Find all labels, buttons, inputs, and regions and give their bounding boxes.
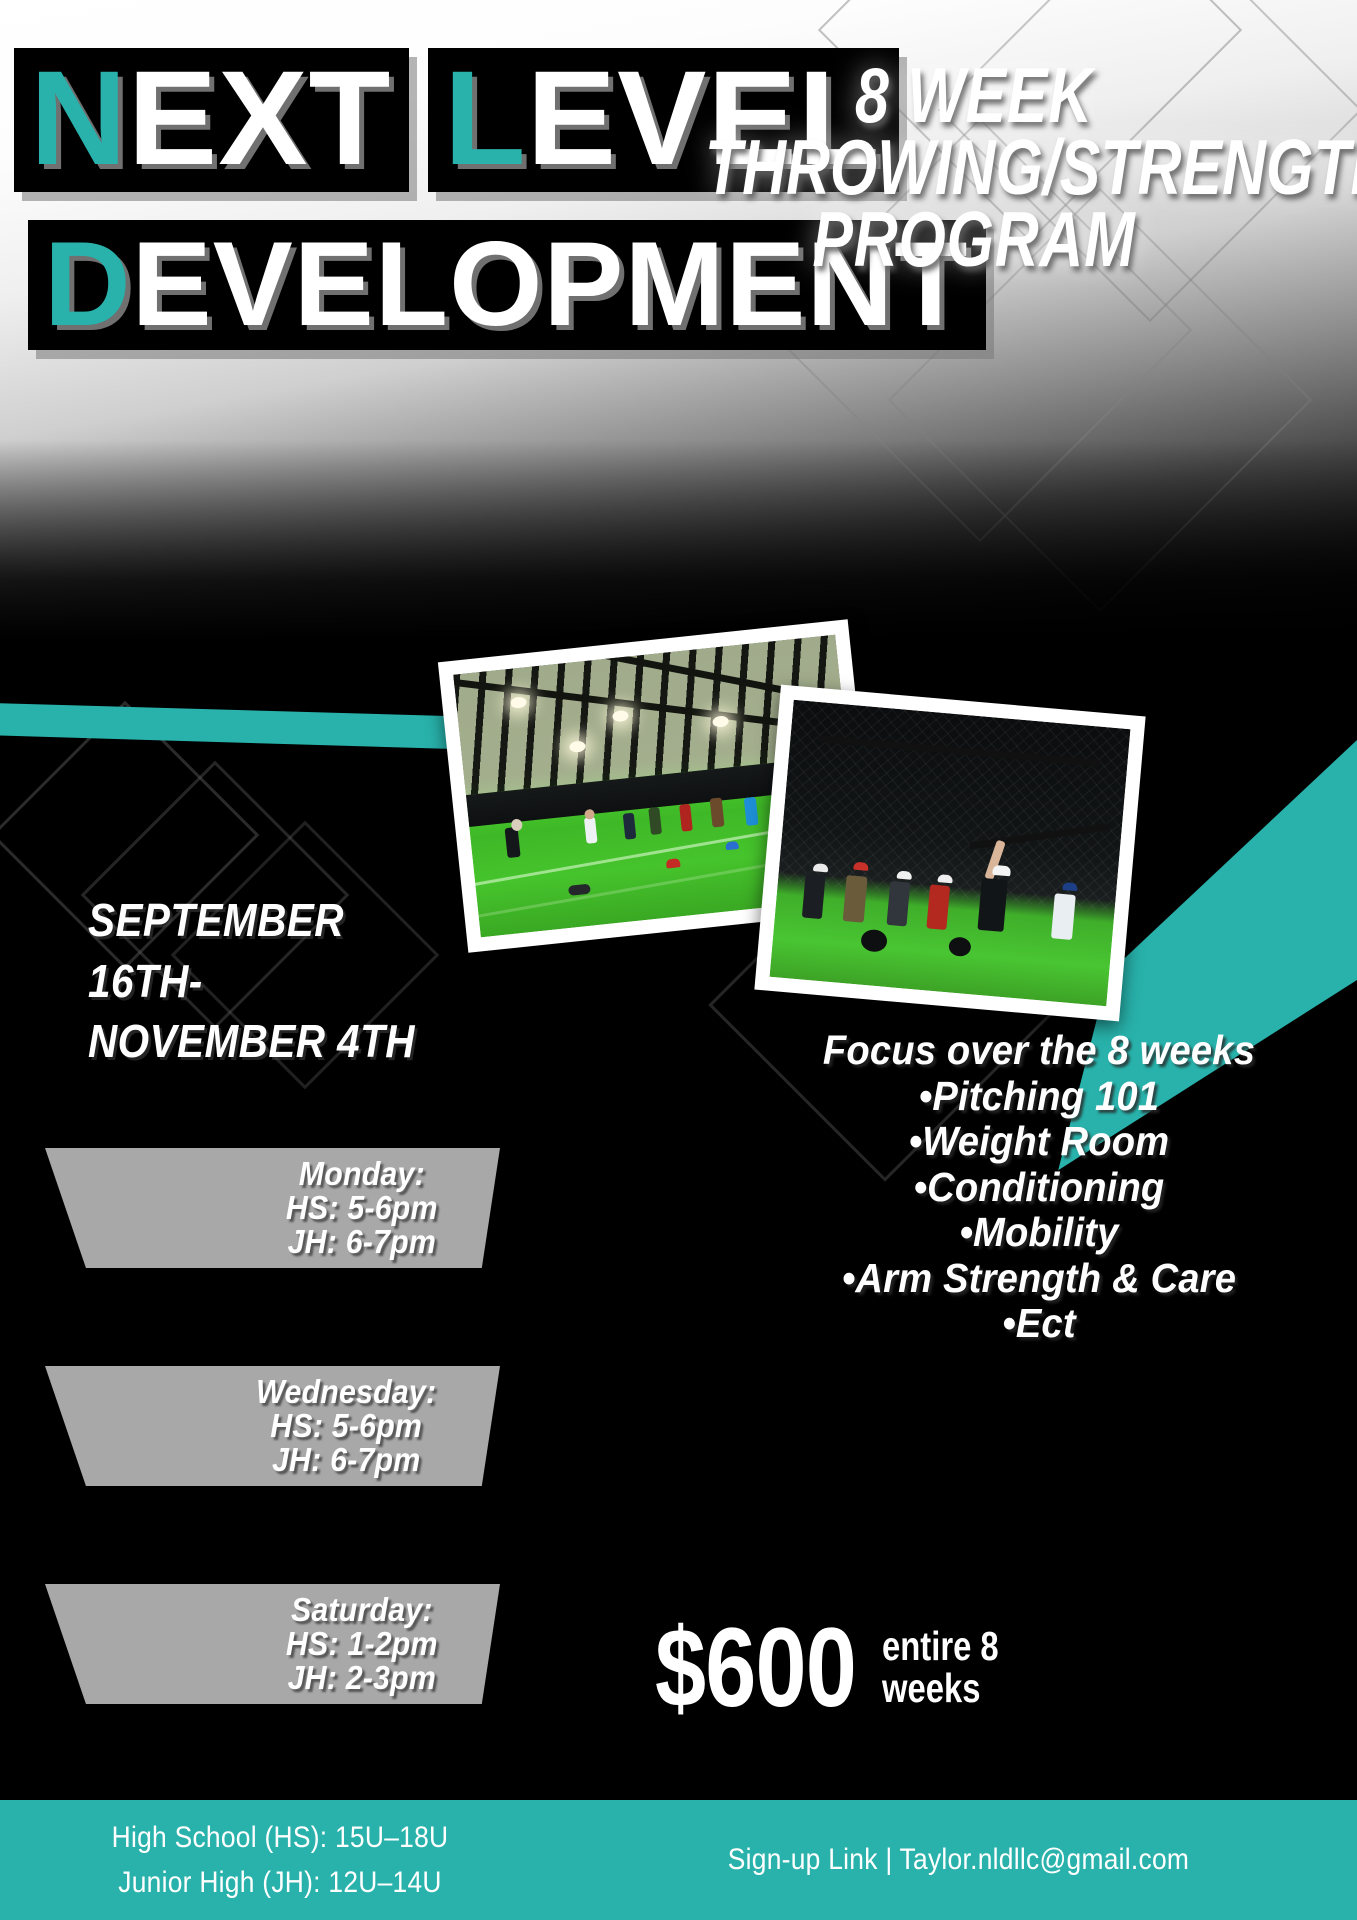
- photo-coach-group-image: [770, 700, 1131, 1006]
- schedule-day-wednesday: Wednesday:: [256, 1375, 436, 1409]
- photo-coach-group: [754, 685, 1145, 1022]
- schedule-day-monday: Monday:: [286, 1157, 438, 1191]
- footer-age-groups: High School (HS): 15U–18U Junior High (J…: [34, 1815, 527, 1905]
- footer-signup-link[interactable]: Sign-up Link | Taylor.nldllc@gmail.com: [608, 1843, 1309, 1877]
- header-fade: [0, 440, 1357, 640]
- schedule-hs-wednesday: HS: 5-6pm: [256, 1409, 436, 1443]
- schedule-jh-saturday: JH: 2-3pm: [286, 1661, 438, 1695]
- focus-item-ect: •Ect: [797, 1301, 1281, 1347]
- date-line-2: NOVEMBER 4TH: [88, 1011, 440, 1072]
- program-headline: 8 WEEK THROWING/STRENGTH PROGRAM: [705, 60, 1243, 275]
- price-amount: $600: [655, 1620, 856, 1716]
- headline-line-2: THROWING/STRENGTH: [705, 132, 1243, 204]
- headline-line-3: PROGRAM: [705, 204, 1243, 276]
- focus-item-weight-room: •Weight Room: [797, 1119, 1281, 1165]
- price-note-line-2: weeks: [882, 1668, 999, 1710]
- headline-line-1: 8 WEEK: [705, 60, 1243, 132]
- price-block: $600 entire 8 weeks: [655, 1620, 1028, 1716]
- footer-age-high-school: High School (HS): 15U–18U: [34, 1815, 527, 1860]
- flyer-poster: NEXT LEVEL DEVELOPMENT 8 WEEK THROWING/S…: [0, 0, 1357, 1920]
- logo-line-next: NEXT: [14, 48, 409, 192]
- price-note: entire 8 weeks: [882, 1626, 999, 1710]
- schedule-card-wednesday: Wednesday: HS: 5-6pm JH: 6-7pm: [45, 1366, 500, 1486]
- logo-accent-l: L: [444, 44, 527, 193]
- schedule-card-monday: Monday: HS: 5-6pm JH: 6-7pm: [45, 1148, 500, 1268]
- footer-bar: High School (HS): 15U–18U Junior High (J…: [0, 1800, 1357, 1920]
- schedule-day-saturday: Saturday:: [286, 1593, 438, 1627]
- logo-accent-d: D: [44, 217, 132, 351]
- program-dates: SEPTEMBER 16TH- NOVEMBER 4TH: [88, 890, 440, 1072]
- focus-heading: Focus over the 8 weeks: [797, 1028, 1281, 1074]
- focus-item-arm-strength: •Arm Strength & Care: [797, 1256, 1281, 1302]
- schedule-jh-monday: JH: 6-7pm: [286, 1225, 438, 1259]
- footer-age-junior-high: Junior High (JH): 12U–14U: [34, 1860, 527, 1905]
- schedule-jh-wednesday: JH: 6-7pm: [256, 1443, 436, 1477]
- schedule-card-saturday: Saturday: HS: 1-2pm JH: 2-3pm: [45, 1584, 500, 1704]
- logo-rest-next: EXT: [128, 44, 392, 193]
- schedule-hs-monday: HS: 5-6pm: [286, 1191, 438, 1225]
- focus-list: Focus over the 8 weeks •Pitching 101 •We…: [797, 1028, 1281, 1347]
- logo-accent-n: N: [30, 44, 128, 193]
- date-line-1: SEPTEMBER 16TH-: [88, 890, 440, 1011]
- focus-item-mobility: •Mobility: [797, 1210, 1281, 1256]
- focus-item-conditioning: •Conditioning: [797, 1165, 1281, 1211]
- focus-item-pitching: •Pitching 101: [797, 1074, 1281, 1120]
- price-note-line-1: entire 8: [882, 1626, 999, 1668]
- schedule-hs-saturday: HS: 1-2pm: [286, 1627, 438, 1661]
